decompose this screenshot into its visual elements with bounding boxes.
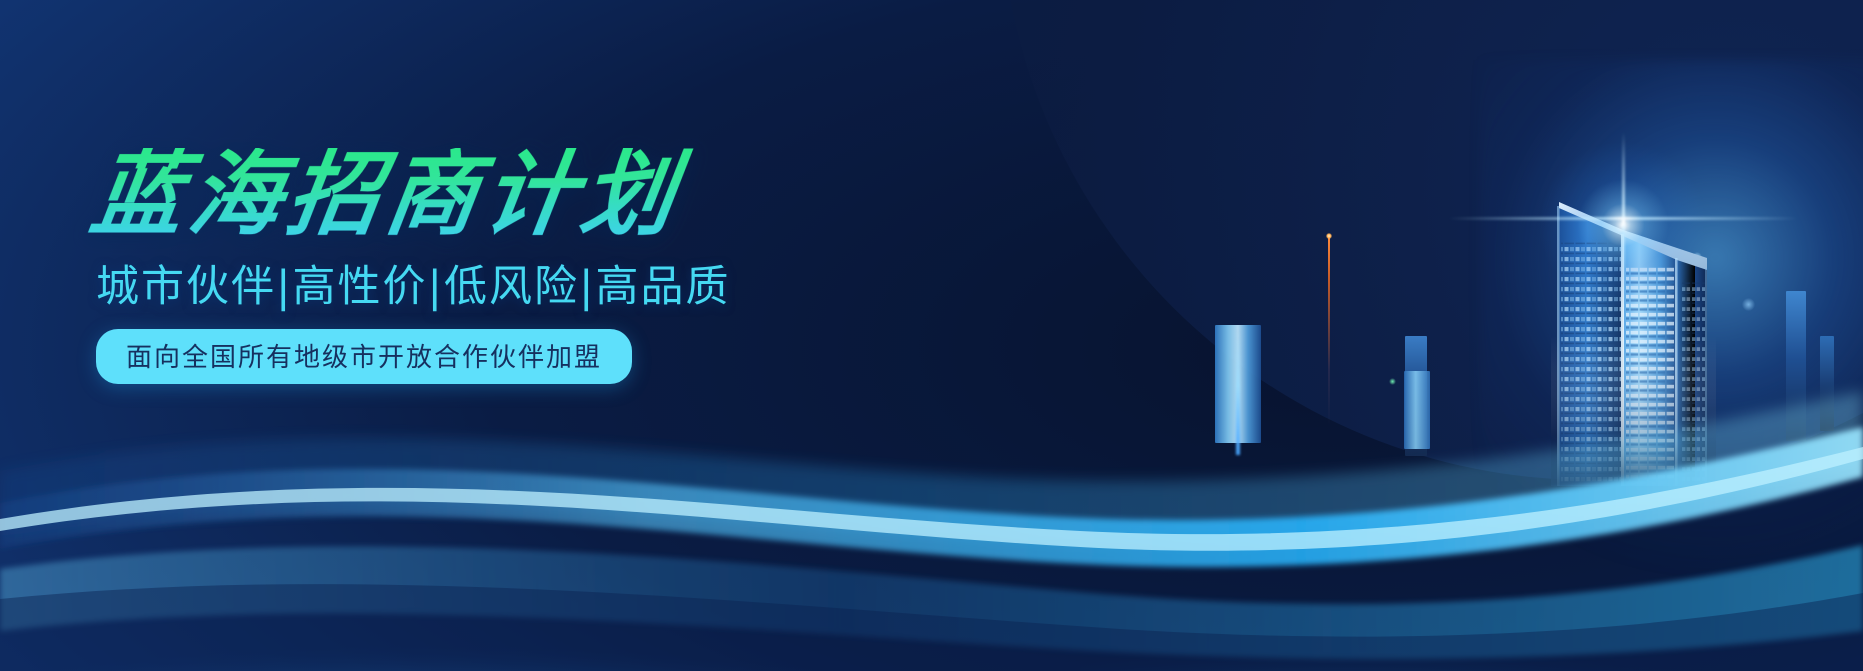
banner-subtitle: 城市伙伴|高性价|低风险|高品质	[96, 264, 852, 311]
page-title: 蓝海招商计划	[85, 148, 858, 242]
antenna-light-icon	[1326, 233, 1332, 239]
banner-text-block: 蓝海招商计划 城市伙伴|高性价|低风险|高品质 面向全国所有地级市开放合作伙伴加…	[92, 148, 852, 384]
status-badge[interactable]: 面向全国所有地级市开放合作伙伴加盟	[96, 329, 632, 384]
lens-flare-streak-vertical	[1622, 132, 1625, 312]
promo-banner: 蓝海招商计划 城市伙伴|高性价|低风险|高品质 面向全国所有地级市开放合作伙伴加…	[0, 0, 1863, 671]
